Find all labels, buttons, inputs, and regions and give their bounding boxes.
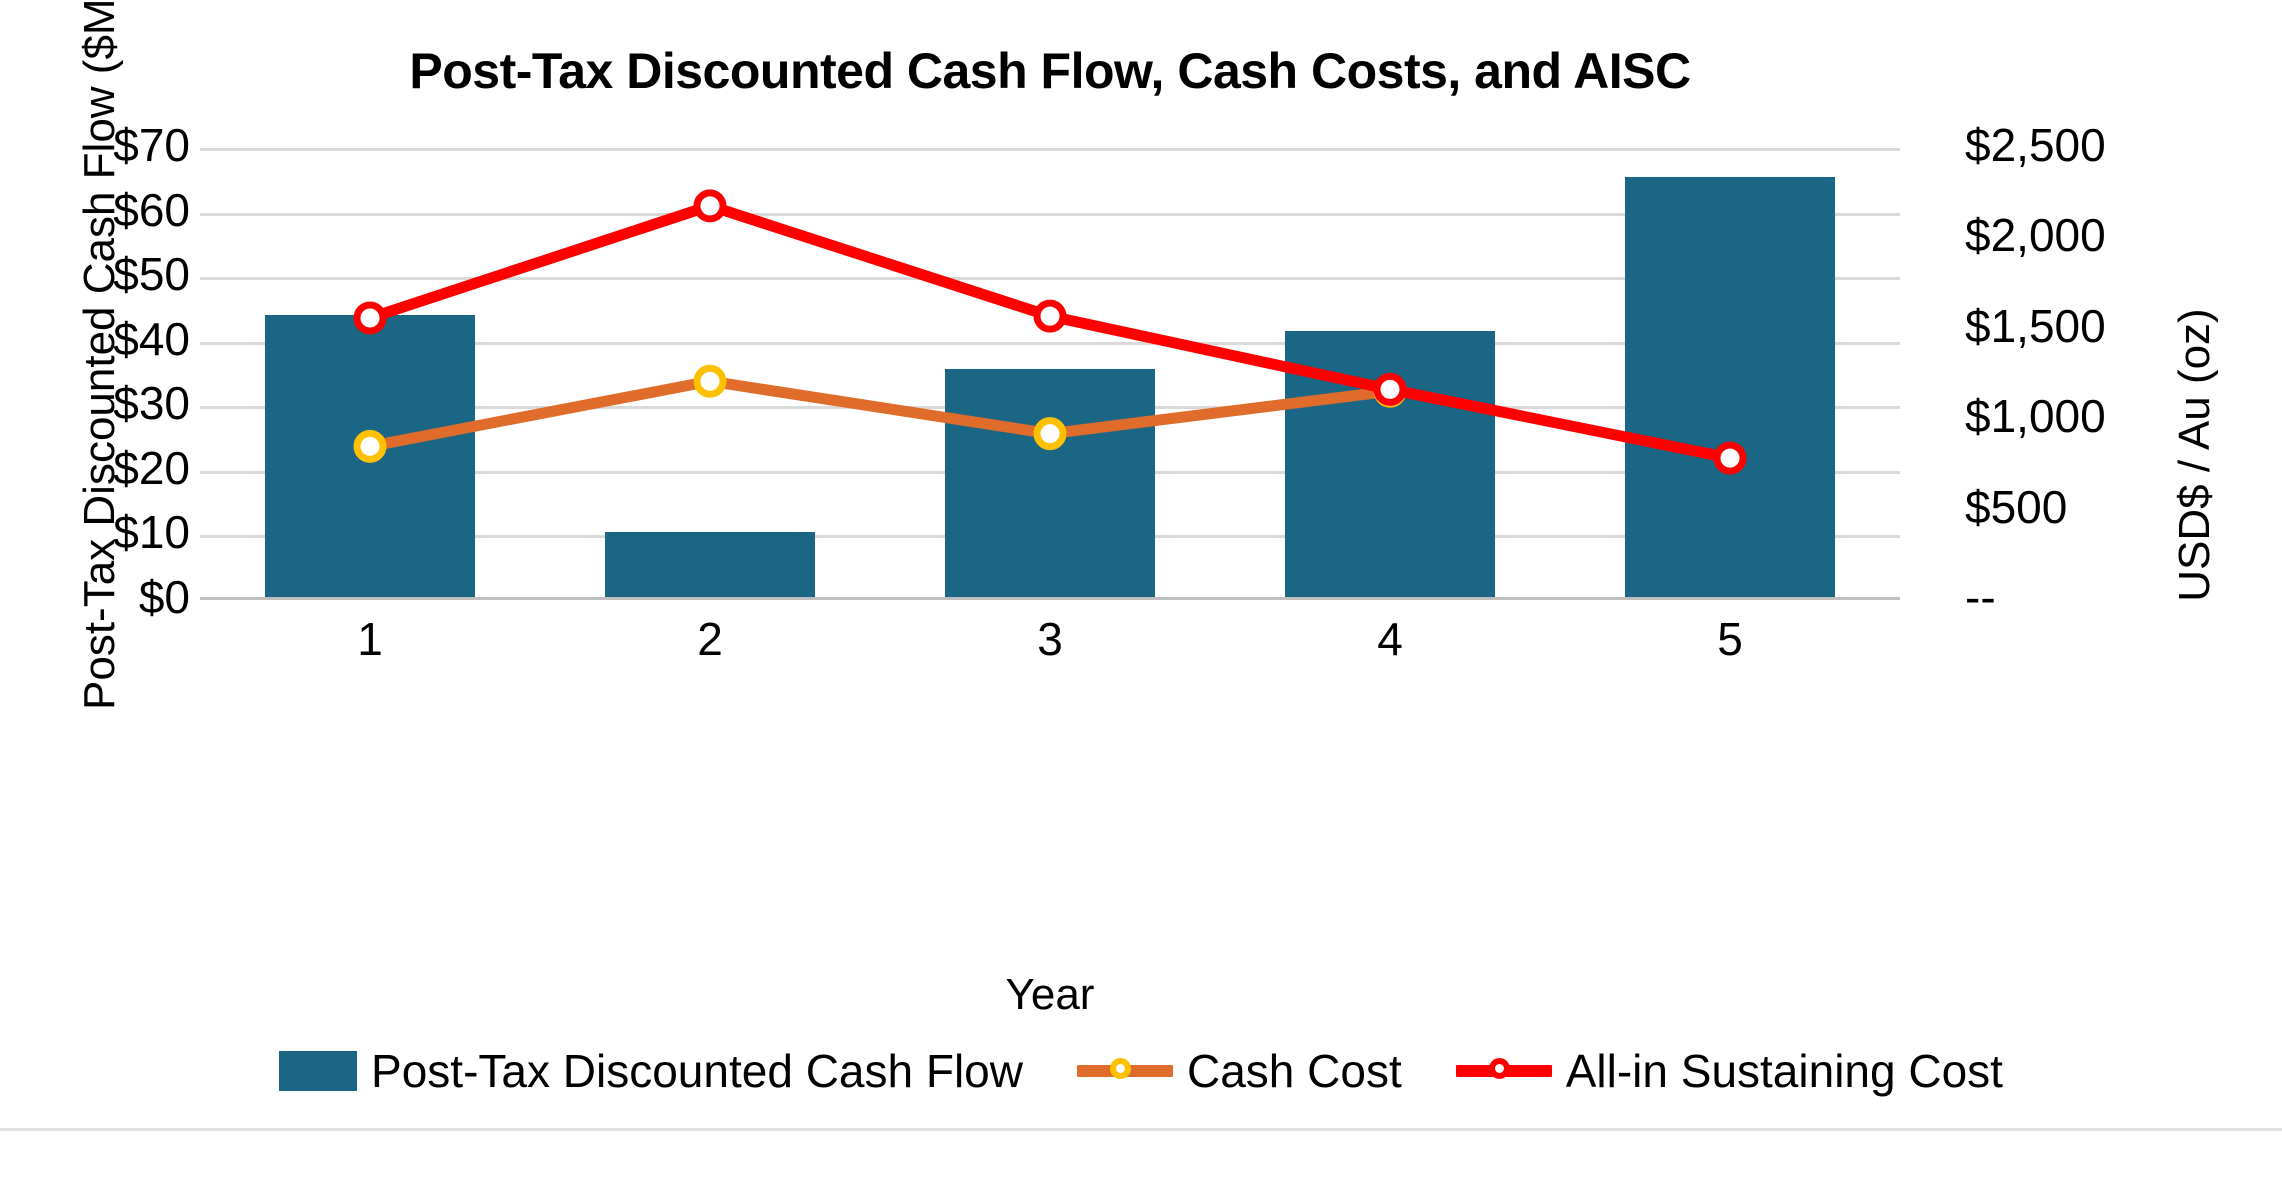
x-axis-tick-label: 2 <box>540 612 880 666</box>
x-axis-tick-label: 5 <box>1560 612 1900 666</box>
x-axis-title: Year <box>200 970 1900 1020</box>
y-axis-right-title: USD$ / Au (oz) <box>2170 195 2220 715</box>
line-series <box>200 148 1900 600</box>
y-axis-left-tick-label: $10 <box>0 505 190 559</box>
legend-marker-icon <box>1489 1058 1510 1079</box>
data-point-marker <box>697 368 723 394</box>
y-axis-right-tick-label: $1,000 <box>1965 389 2265 443</box>
y-axis-left-tick-label: $30 <box>0 376 190 430</box>
legend-item[interactable]: Cash Cost <box>1077 1048 1402 1094</box>
y-axis-right-tick-label: $2,000 <box>1965 208 2265 262</box>
data-point-marker <box>357 305 383 331</box>
data-point-marker <box>357 433 383 459</box>
chart-legend: Post-Tax Discounted Cash FlowCash CostAl… <box>0 1048 2282 1094</box>
y-axis-right-tick-label: -- <box>1965 570 2265 624</box>
y-axis-right-tick-label: $500 <box>1965 480 2265 534</box>
legend-item-label: Cash Cost <box>1187 1048 1402 1094</box>
y-axis-left-tick-label: $50 <box>0 247 190 301</box>
y-axis-right-tick-label: $2,500 <box>1965 118 2265 172</box>
y-axis-left-tick-label: $0 <box>0 570 190 624</box>
data-point-marker <box>697 193 723 219</box>
x-axis-tick-label: 4 <box>1220 612 1560 666</box>
x-axis-tick-label: 3 <box>880 612 1220 666</box>
data-point-marker <box>1037 303 1063 329</box>
legend-item[interactable]: All-in Sustaining Cost <box>1456 1048 2003 1094</box>
y-axis-left-tick-label: $70 <box>0 118 190 172</box>
y-axis-left-tick-label: $40 <box>0 312 190 366</box>
data-point-marker <box>1717 445 1743 471</box>
data-point-marker <box>1037 421 1063 447</box>
legend-item[interactable]: Post-Tax Discounted Cash Flow <box>279 1048 1023 1094</box>
x-axis-line <box>200 597 1900 600</box>
y-axis-left-tick-label: $20 <box>0 441 190 495</box>
legend-item-label: All-in Sustaining Cost <box>1566 1048 2003 1094</box>
legend-item-label: Post-Tax Discounted Cash Flow <box>371 1048 1023 1094</box>
x-axis-tick-label: 1 <box>200 612 540 666</box>
chart-container: Post-Tax Discounted Cash Flow, Cash Cost… <box>0 0 2282 1177</box>
y-axis-left-tick-label: $60 <box>0 183 190 237</box>
legend-line-swatch-icon <box>1456 1054 1552 1088</box>
legend-line-swatch-icon <box>1077 1054 1173 1088</box>
plot-area <box>200 148 1900 600</box>
bottom-divider <box>0 1128 2282 1131</box>
line-path <box>370 381 1390 446</box>
legend-marker-icon <box>1110 1058 1131 1079</box>
legend-bar-swatch-icon <box>279 1051 357 1091</box>
data-point-marker <box>1377 376 1403 402</box>
y-axis-right-tick-label: $1,500 <box>1965 299 2265 353</box>
chart-title: Post-Tax Discounted Cash Flow, Cash Cost… <box>0 42 2100 100</box>
